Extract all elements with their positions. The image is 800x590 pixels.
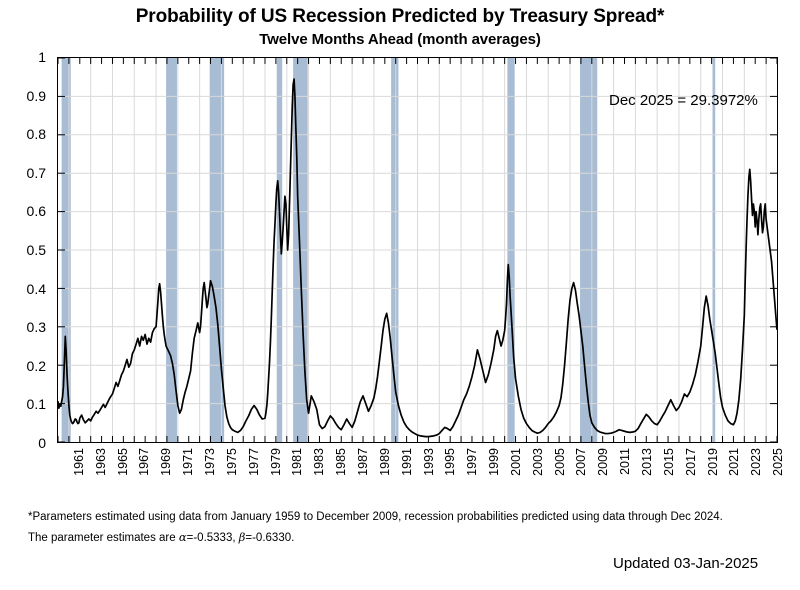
x-tick-label: 2021 xyxy=(728,448,741,476)
x-tick-label: 1981 xyxy=(291,448,304,476)
y-tick-label: 0.4 xyxy=(0,282,46,296)
footnote-parameters: *Parameters estimated using data from Ja… xyxy=(28,511,723,523)
x-tick-label: 1995 xyxy=(444,448,457,476)
x-tick-label: 2019 xyxy=(707,448,720,476)
x-tick-label: 2005 xyxy=(554,448,567,476)
x-tick-label: 1985 xyxy=(335,448,348,476)
x-tick-label: 1991 xyxy=(401,448,414,476)
updated-date: Updated 03-Jan-2025 xyxy=(613,555,758,572)
x-tick-label: 1971 xyxy=(182,448,195,476)
x-tick-label: 1983 xyxy=(313,448,326,476)
x-tick-label: 2007 xyxy=(575,448,588,476)
x-tick-label: 1969 xyxy=(160,448,173,476)
footnote-estimates-prefix: The parameter estimates are xyxy=(28,532,179,544)
alpha-symbol: α xyxy=(179,530,187,544)
x-tick-label: 2015 xyxy=(663,448,676,476)
x-tick-label: 2017 xyxy=(685,448,698,476)
x-tick-label: 1979 xyxy=(270,448,283,476)
current-value-annotation: Dec 2025 = 29.3972% xyxy=(609,92,758,109)
x-tick-label: 1973 xyxy=(204,448,217,476)
chart-canvas xyxy=(58,58,777,442)
beta-value: =-0.6330. xyxy=(245,532,294,544)
y-tick-label: 0.6 xyxy=(0,204,46,218)
chart-subtitle: Twelve Months Ahead (month averages) xyxy=(0,31,800,48)
x-tick-label: 1997 xyxy=(466,448,479,476)
x-tick-label: 2025 xyxy=(772,448,785,476)
y-tick-label: 0 xyxy=(0,436,46,450)
x-tick-label: 1975 xyxy=(226,448,239,476)
y-tick-label: 1 xyxy=(0,50,46,64)
gridline-group xyxy=(58,58,777,442)
y-tick-label: 0.5 xyxy=(0,243,46,257)
x-tick-label: 2013 xyxy=(641,448,654,476)
x-tick-label: 1963 xyxy=(95,448,108,476)
x-tick-label: 1961 xyxy=(73,448,86,476)
x-tick-label: 2003 xyxy=(532,448,545,476)
x-tick-label: 1987 xyxy=(357,448,370,476)
x-tick-label: 2001 xyxy=(510,448,523,476)
chart-title: Probability of US Recession Predicted by… xyxy=(0,6,800,28)
y-tick-label: 0.1 xyxy=(0,397,46,411)
x-tick-label: 1993 xyxy=(423,448,436,476)
plot-area xyxy=(57,57,778,443)
footnote-estimates: The parameter estimates are α=-0.5333, β… xyxy=(28,530,294,544)
x-tick-label: 1965 xyxy=(117,448,130,476)
y-tick-label: 0.2 xyxy=(0,359,46,373)
x-tick-label: 1989 xyxy=(379,448,392,476)
x-tick-label: 2009 xyxy=(597,448,610,476)
x-tick-label: 2023 xyxy=(750,448,763,476)
x-tick-label: 1977 xyxy=(248,448,261,476)
x-tick-label: 2011 xyxy=(619,448,632,475)
x-tick-label: 1967 xyxy=(138,448,151,476)
y-tick-label: 0.3 xyxy=(0,320,46,334)
recession-probability-figure: Probability of US Recession Predicted by… xyxy=(0,0,800,590)
y-tick-label: 0.9 xyxy=(0,89,46,103)
x-tick-label: 1999 xyxy=(488,448,501,476)
y-tick-label: 0.7 xyxy=(0,166,46,180)
y-tick-label: 0.8 xyxy=(0,127,46,141)
alpha-value: =-0.5333, xyxy=(187,532,239,544)
